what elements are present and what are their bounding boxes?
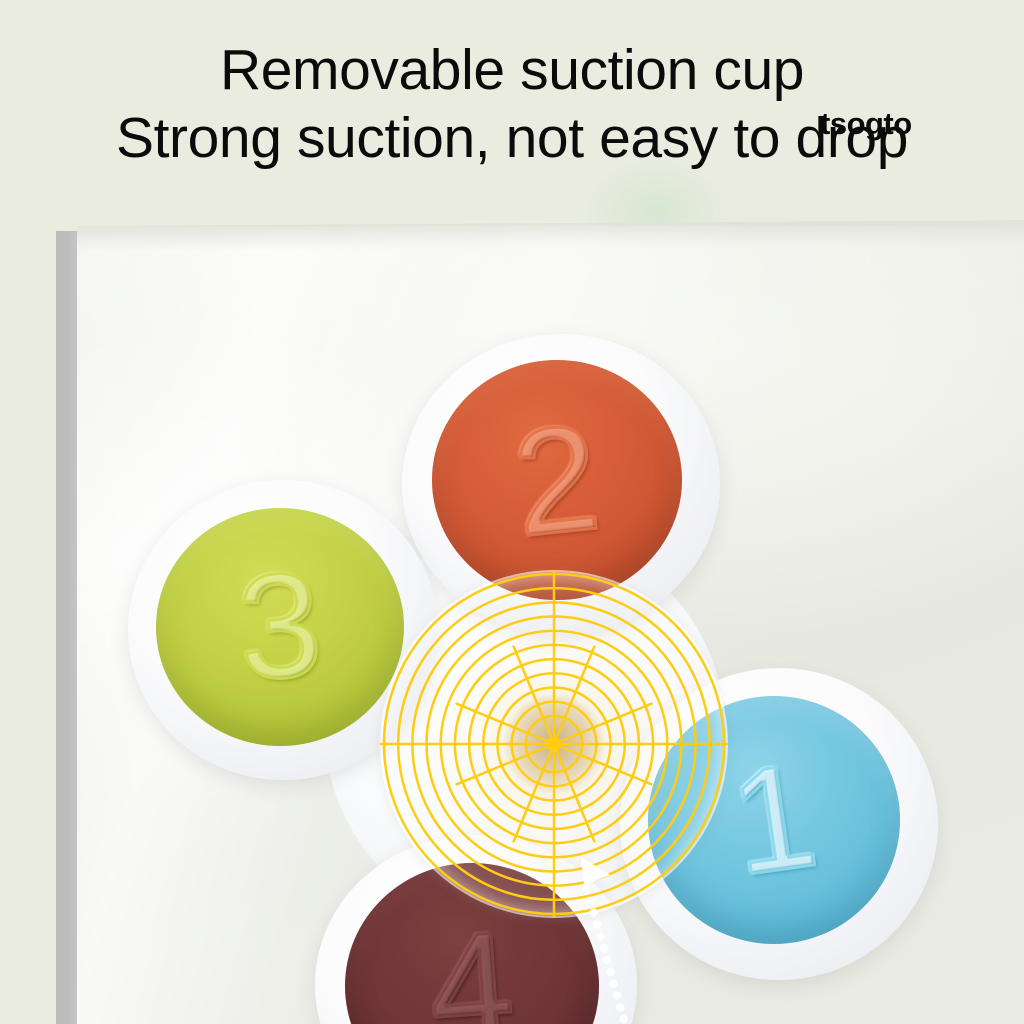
pad-number-3: 3 xyxy=(234,550,326,703)
pad-orange: 2 xyxy=(432,360,682,600)
panel-left-edge xyxy=(56,231,78,1024)
product-image-canvas: Removable suction cup Strong suction, no… xyxy=(0,0,1024,1024)
pad-number-4: 4 xyxy=(425,908,519,1024)
dotted-arrow-indicator-icon xyxy=(565,855,745,1024)
pad-number-2: 2 xyxy=(508,401,607,559)
headline-text: Removable suction cup Strong suction, no… xyxy=(0,36,1024,172)
watermark-label: tsogto xyxy=(820,108,912,139)
pad-green: 3 xyxy=(156,508,404,746)
headline-line-1: Removable suction cup xyxy=(0,36,1024,104)
